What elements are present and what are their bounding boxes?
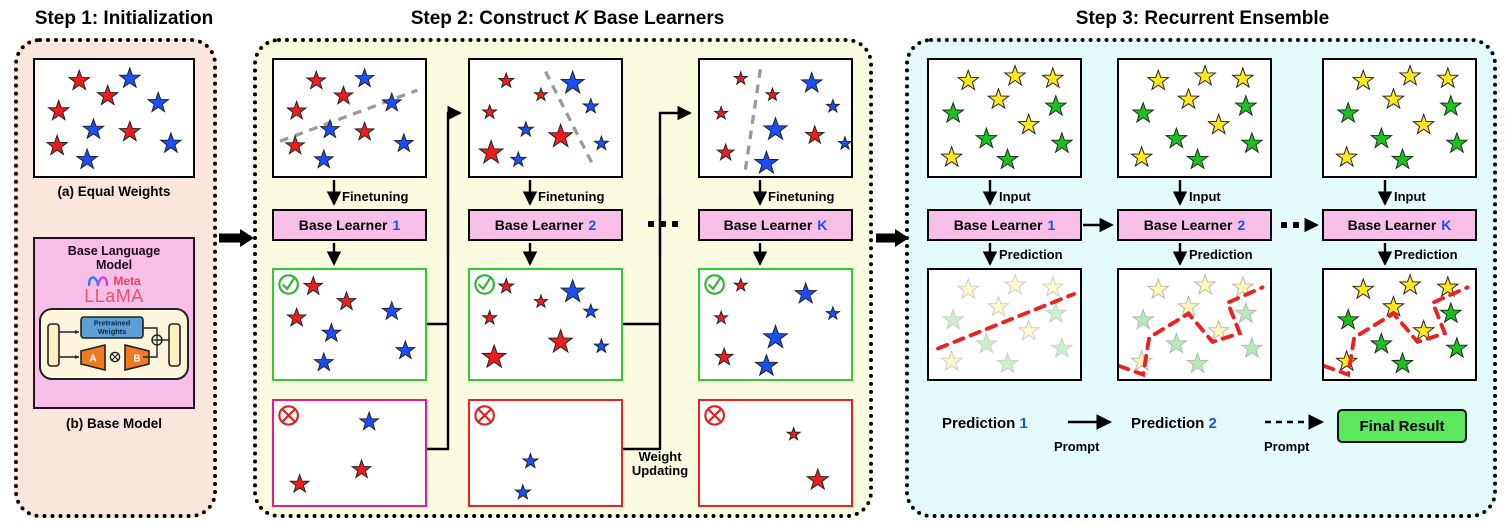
- star-red: [766, 88, 779, 100]
- learner-k-train-scatter: [698, 58, 853, 178]
- star-green: [1242, 133, 1262, 152]
- cross-circle-icon: [279, 406, 298, 424]
- step2-learner-2-index: 2: [588, 217, 596, 233]
- step-2-title: Step 2: Construct K Base Learners: [255, 8, 880, 30]
- step-2-title-suffix: Base Learners: [588, 8, 724, 29]
- step3-learner-1-label: Base Learner: [954, 217, 1043, 233]
- cross-circle-icon: [475, 406, 494, 424]
- star-green: [1441, 303, 1461, 322]
- star-blue: [83, 119, 103, 138]
- star-blue: [561, 280, 584, 302]
- star-green: [997, 149, 1017, 168]
- learner-1-correct-plot: [274, 270, 425, 379]
- prediction-plot-1: [929, 270, 1080, 379]
- step3-learner-2-label: Base Learner: [1144, 217, 1233, 233]
- star-yellow: [1336, 147, 1356, 166]
- learner-1-incorrect-plot: [274, 401, 425, 505]
- star-green: [1166, 128, 1186, 147]
- finetuning-label-k: Finetuning: [768, 190, 834, 204]
- star-green: [1133, 310, 1153, 329]
- star-red: [304, 277, 323, 294]
- star-blue: [315, 353, 334, 370]
- star-blue: [395, 134, 414, 151]
- star-green: [1236, 303, 1256, 322]
- star-blue: [802, 73, 822, 92]
- star-blue: [583, 99, 598, 113]
- star-green: [1166, 334, 1186, 353]
- base-model-card: Base Language Model Meta LLaMA Pretraine…: [33, 237, 195, 409]
- weight-updating-line1: Weight: [628, 450, 692, 464]
- star-yellow: [1383, 89, 1403, 108]
- star-green: [1133, 103, 1153, 122]
- learner-k-train-plot: [700, 60, 851, 176]
- star-green: [1371, 128, 1391, 147]
- star-yellow: [1353, 279, 1373, 298]
- star-green: [1242, 338, 1262, 357]
- star-blue: [315, 150, 334, 167]
- star-blue: [764, 118, 787, 140]
- star-red: [479, 140, 503, 162]
- star-red: [334, 86, 353, 103]
- step3-learner-2-index: 2: [1237, 217, 1245, 233]
- star-blue: [756, 355, 778, 375]
- prediction-plot-2: [1119, 270, 1270, 379]
- star-yellow: [1043, 68, 1063, 87]
- star-blue: [755, 151, 778, 173]
- prediction-boundary: [938, 294, 1074, 349]
- llama-wordmark: LLaMA: [84, 287, 144, 305]
- star-red: [806, 126, 824, 143]
- star-red: [287, 101, 306, 118]
- ensemble-input-plot-2: [1119, 60, 1270, 176]
- finetuning-label-1: Finetuning: [342, 190, 408, 204]
- prompt-label-1: Prompt: [1054, 440, 1100, 454]
- ellipsis-dot: [1305, 222, 1311, 228]
- star-green: [1187, 149, 1207, 168]
- star-yellow: [1018, 320, 1038, 339]
- ellipsis-dot: [648, 221, 654, 227]
- step2-learner-1-index: 1: [392, 217, 400, 233]
- lora-diagram: Pretrained Weights A B: [39, 308, 189, 385]
- chain-prediction-1-index: 1: [1020, 415, 1028, 432]
- star-blue: [396, 341, 415, 358]
- step2-base-learner-2[interactable]: Base Learner2: [468, 209, 623, 241]
- base-model-title: Base Language Model: [68, 244, 160, 272]
- caption-equal-weights: (a) Equal Weights: [33, 184, 195, 199]
- star-red: [120, 121, 140, 140]
- learner-k-correct-plot: [700, 270, 851, 379]
- lora-pretrained-label-2: Weights: [98, 327, 127, 336]
- star-green: [1052, 133, 1072, 152]
- star-green: [1046, 303, 1066, 322]
- star-green: [1236, 96, 1256, 115]
- star-blue: [584, 304, 598, 317]
- decision-boundary: [745, 69, 760, 170]
- star-yellow: [1195, 66, 1215, 85]
- star-green: [1447, 133, 1467, 152]
- star-green: [943, 310, 963, 329]
- step3-learner-k-label: Base Learner: [1348, 217, 1437, 233]
- star-yellow: [1195, 275, 1215, 294]
- star-blue: [511, 152, 526, 166]
- learner-k-incorrect-scatter: [698, 399, 853, 507]
- star-yellow: [1336, 351, 1356, 370]
- star-red: [499, 73, 514, 87]
- weight-updating-label: Weight Updating: [628, 450, 692, 477]
- prediction-label-k: Prediction: [1394, 248, 1458, 262]
- star-blue: [322, 324, 341, 341]
- final-result-label: Final Result: [1359, 418, 1444, 435]
- input-label-k: Input: [1394, 190, 1426, 204]
- star-yellow: [1438, 68, 1458, 87]
- star-yellow: [988, 296, 1008, 315]
- star-blue: [795, 283, 816, 303]
- star-green: [1441, 96, 1461, 115]
- chain-prediction-1-label: Prediction: [942, 415, 1015, 432]
- star-red: [286, 136, 305, 153]
- star-red: [715, 107, 728, 119]
- star-red: [48, 100, 68, 119]
- lora-matrix-a-label: A: [89, 354, 96, 365]
- star-yellow: [1400, 66, 1420, 85]
- equal-weights-star-plot: [35, 60, 193, 176]
- step3-base-learner-2[interactable]: Base Learner2: [1117, 209, 1272, 241]
- star-red: [352, 460, 371, 477]
- base-model-title-line2: Model: [68, 258, 160, 272]
- star-red: [482, 345, 506, 367]
- star-yellow: [1131, 147, 1151, 166]
- star-red: [535, 88, 548, 100]
- star-red: [715, 348, 732, 364]
- star-red: [307, 71, 326, 88]
- star-blue: [839, 137, 851, 149]
- star-green: [1187, 353, 1207, 372]
- star-yellow: [1233, 68, 1253, 87]
- star-red: [47, 135, 67, 154]
- star-green: [1392, 149, 1412, 168]
- star-red: [499, 279, 514, 293]
- star-yellow: [1400, 275, 1420, 294]
- star-blue: [360, 412, 379, 429]
- star-blue: [355, 69, 374, 86]
- star-red: [734, 279, 747, 291]
- step2-learner-k-label: Base Learner: [724, 217, 813, 233]
- star-green: [1338, 103, 1358, 122]
- arrow-step1-to-step2: [219, 229, 254, 247]
- star-red: [337, 292, 356, 309]
- star-yellow: [1413, 114, 1433, 133]
- step3-base-learner-k[interactable]: Base LearnerK: [1322, 209, 1477, 241]
- check-circle-icon: [279, 275, 298, 293]
- star-blue: [148, 92, 168, 111]
- check-circle-icon: [475, 275, 494, 293]
- learner-2-train-plot: [470, 60, 621, 176]
- star-red: [807, 469, 828, 489]
- star-blue: [826, 307, 839, 319]
- step3-learner-1-index: 1: [1047, 217, 1055, 233]
- star-red: [549, 124, 573, 146]
- star-yellow: [958, 279, 978, 298]
- learner-2-incorrect-plot: [470, 401, 621, 505]
- star-yellow: [1353, 70, 1373, 89]
- star-red: [787, 428, 800, 440]
- step-2-title-k: K: [574, 8, 588, 29]
- learner-2-correct-plot: [470, 270, 621, 379]
- prediction-label-1: Prediction: [999, 248, 1063, 262]
- star-blue: [764, 325, 788, 347]
- star-yellow: [1148, 279, 1168, 298]
- star-green: [1046, 96, 1066, 115]
- star-blue: [383, 302, 402, 319]
- step-2-title-prefix: Step 2: Construct: [411, 8, 575, 29]
- step3-ellipsis: [1281, 222, 1311, 228]
- star-green: [976, 128, 996, 147]
- star-green: [1338, 310, 1358, 329]
- chain-prediction-1: Prediction 1: [942, 415, 1028, 432]
- star-red: [483, 105, 497, 118]
- star-blue: [561, 71, 584, 93]
- star-yellow: [1178, 89, 1198, 108]
- star-yellow: [1148, 70, 1168, 89]
- star-red: [483, 311, 497, 324]
- step2-base-learner-1[interactable]: Base Learner1: [272, 209, 427, 241]
- ellipsis-dot: [1281, 222, 1287, 228]
- check-circle-icon: [705, 275, 724, 293]
- chain-prediction-2-index: 2: [1209, 415, 1217, 432]
- learner-k-incorrect-plot: [700, 401, 851, 505]
- star-red: [535, 295, 548, 307]
- star-red: [549, 330, 573, 352]
- chain-prediction-2-label: Prediction: [1131, 415, 1204, 432]
- star-blue: [515, 485, 530, 499]
- step2-learner-2-label: Base Learner: [495, 217, 584, 233]
- star-blue: [120, 68, 140, 87]
- star-red: [715, 311, 728, 323]
- learner-2-train-scatter: [468, 58, 623, 178]
- input-label-1: Input: [999, 190, 1031, 204]
- learner-1-incorrect-scatter: [272, 399, 427, 507]
- prediction-label-2: Prediction: [1189, 248, 1253, 262]
- star-red: [97, 85, 117, 104]
- star-red: [355, 122, 374, 139]
- star-blue: [321, 120, 340, 137]
- star-blue: [518, 122, 533, 136]
- prediction-plot-k: [1324, 270, 1475, 379]
- star-red: [287, 308, 306, 325]
- caption-base-model: (b) Base Model: [33, 416, 195, 431]
- final-result-badge[interactable]: Final Result: [1337, 409, 1467, 443]
- learner-2-correct-scatter: [468, 268, 623, 381]
- input-label-2: Input: [1189, 190, 1221, 204]
- star-red: [717, 144, 734, 160]
- ensemble-input-scatter-1: [927, 58, 1082, 178]
- star-red: [69, 70, 89, 89]
- finetuning-label-2: Finetuning: [538, 190, 604, 204]
- chain-prediction-2: Prediction 2: [1131, 415, 1217, 432]
- ensemble-input-scatter-k: [1322, 58, 1477, 178]
- star-blue: [594, 339, 608, 352]
- ellipsis-dot: [1293, 222, 1299, 228]
- base-model-title-line1: Base Language: [68, 244, 160, 258]
- star-red: [290, 475, 309, 492]
- weight-updating-line2: Updating: [628, 464, 692, 478]
- star-blue: [77, 149, 97, 168]
- ensemble-input-plot-1: [929, 60, 1080, 176]
- lora-matrix-b-label: B: [133, 354, 140, 365]
- star-yellow: [1131, 351, 1151, 370]
- learner-k-correct-scatter: [698, 268, 853, 381]
- step2-learner-k-index: K: [817, 217, 827, 233]
- star-yellow: [1005, 66, 1025, 85]
- prediction-scatter-1: [927, 268, 1082, 381]
- learner-2-incorrect-scatter: [468, 399, 623, 507]
- step3-base-learner-1[interactable]: Base Learner1: [927, 209, 1082, 241]
- star-blue: [594, 136, 608, 149]
- star-blue: [161, 133, 181, 152]
- lora-schematic-icon: Pretrained Weights A B: [39, 308, 189, 380]
- star-yellow: [941, 147, 961, 166]
- learner-1-train-scatter: [272, 58, 427, 178]
- star-green: [943, 103, 963, 122]
- ensemble-input-plot-k: [1324, 60, 1475, 176]
- cross-circle-icon: [705, 406, 724, 424]
- prompt-label-2: Prompt: [1264, 440, 1310, 454]
- learner-1-train-plot: [274, 60, 425, 176]
- star-green: [1447, 338, 1467, 357]
- star-green: [997, 353, 1017, 372]
- ellipsis-dot: [660, 221, 666, 227]
- star-red: [734, 72, 747, 84]
- learner-1-correct-scatter: [272, 268, 427, 381]
- star-yellow: [1018, 114, 1038, 133]
- star-yellow: [958, 70, 978, 89]
- ensemble-input-scatter-2: [1117, 58, 1272, 178]
- step-1-title: Step 1: Initialization: [14, 8, 234, 30]
- star-green: [1052, 338, 1072, 357]
- star-green: [1371, 334, 1391, 353]
- step3-learner-k-index: K: [1441, 217, 1451, 233]
- star-yellow: [988, 89, 1008, 108]
- star-blue: [826, 100, 839, 112]
- step-3-title: Step 3: Recurrent Ensemble: [905, 8, 1500, 30]
- star-blue: [523, 454, 538, 468]
- prediction-scatter-2: [1117, 268, 1272, 381]
- equal-weights-scatter: [33, 58, 195, 178]
- star-yellow: [941, 351, 961, 370]
- star-yellow: [1005, 275, 1025, 294]
- step2-learner-1-label: Base Learner: [299, 217, 388, 233]
- step2-base-learner-k[interactable]: Base LearnerK: [698, 209, 853, 241]
- star-yellow: [1043, 277, 1063, 296]
- star-yellow: [1208, 114, 1228, 133]
- ellipsis-dot: [672, 221, 678, 227]
- step2-ellipsis: [648, 221, 678, 227]
- prediction-scatter-k: [1322, 268, 1477, 381]
- star-green: [1392, 353, 1412, 372]
- star-green: [976, 334, 996, 353]
